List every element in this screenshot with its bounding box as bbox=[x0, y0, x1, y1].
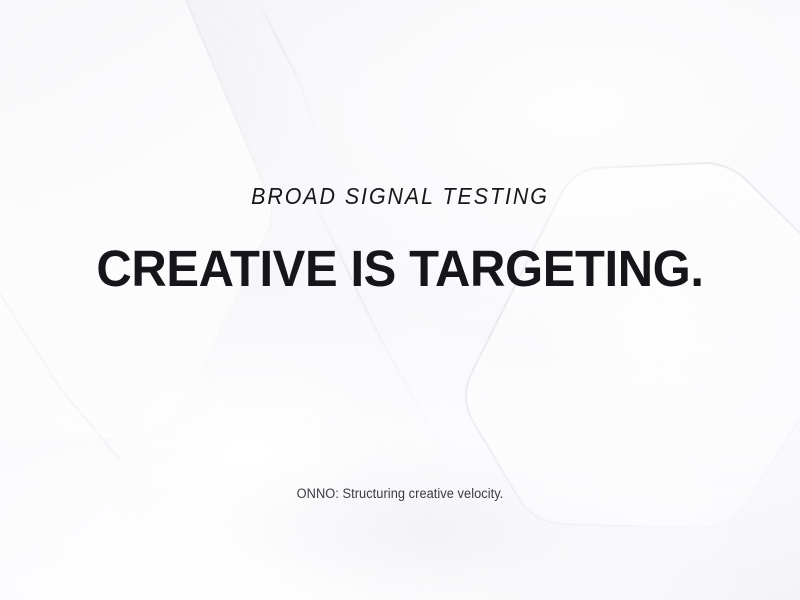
footer-note: ONNO: Structuring creative velocity. bbox=[20, 486, 780, 501]
slide-content: BROAD SIGNAL TESTING CREATIVE IS TARGETI… bbox=[0, 0, 800, 600]
page-title: CREATIVE IS TARGETING. bbox=[16, 239, 784, 298]
brand-slide: BROAD SIGNAL TESTING CREATIVE IS TARGETI… bbox=[0, 0, 800, 600]
eyebrow-text: BROAD SIGNAL TESTING bbox=[28, 183, 772, 210]
